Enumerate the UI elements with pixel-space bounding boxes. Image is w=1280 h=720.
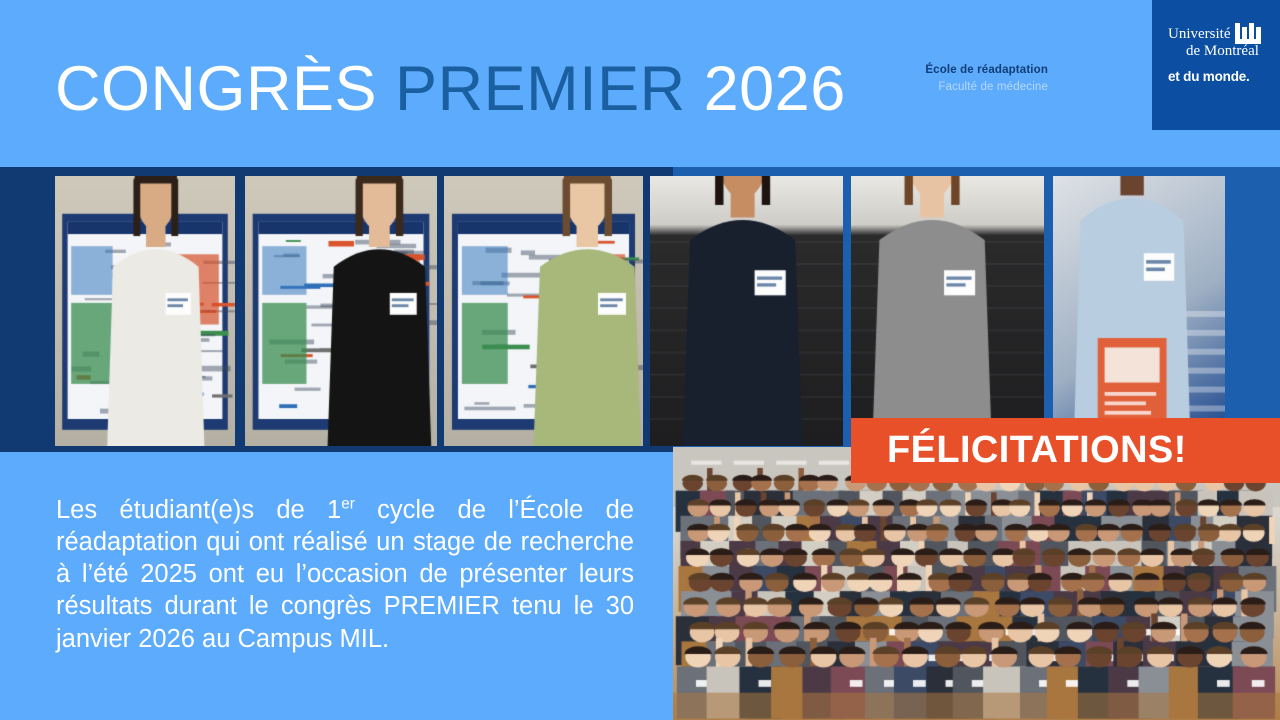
banner-label: FÉLICITATIONS! bbox=[851, 429, 1187, 472]
faculty-school-name: École de réadaptation bbox=[925, 62, 1048, 79]
photo-student-poster-2 bbox=[245, 176, 437, 446]
photo-group bbox=[673, 447, 1280, 720]
udem-logo-block: Université de Montréal et du monde. bbox=[1152, 0, 1280, 130]
faculty-block: École de réadaptation Faculté de médecin… bbox=[925, 62, 1048, 95]
description-paragraph: Les étudiant(e)s de 1er cycle de l’École… bbox=[56, 494, 634, 655]
photo-student-poster-1 bbox=[55, 176, 235, 446]
title-premier: PREMIER bbox=[395, 54, 686, 124]
photo-student-award bbox=[1053, 176, 1225, 446]
congratulations-banner: FÉLICITATIONS! bbox=[851, 418, 1280, 483]
header-bar: CONGRÈS PREMIER 2026 École de réadaptati… bbox=[0, 0, 1280, 167]
udem-wordmark: Université de Montréal bbox=[1168, 26, 1270, 60]
title-year: 2026 bbox=[686, 54, 846, 124]
udem-m-mark-icon bbox=[1234, 23, 1264, 47]
paragraph-ordinal-suffix: er bbox=[341, 496, 355, 513]
photo-student-oral-2 bbox=[851, 176, 1044, 446]
paragraph-prefix: Les étudiant(e)s de 1 bbox=[56, 496, 341, 524]
photo-student-oral-1 bbox=[650, 176, 843, 446]
slide-root: CONGRÈS PREMIER 2026 École de réadaptati… bbox=[0, 0, 1280, 720]
title-congres: CONGRÈS bbox=[55, 54, 395, 124]
page-title: CONGRÈS PREMIER 2026 bbox=[55, 58, 846, 121]
faculty-name: Faculté de médecine bbox=[925, 79, 1048, 96]
udem-tagline: et du monde. bbox=[1168, 69, 1270, 84]
photo-student-poster-3 bbox=[444, 176, 643, 446]
